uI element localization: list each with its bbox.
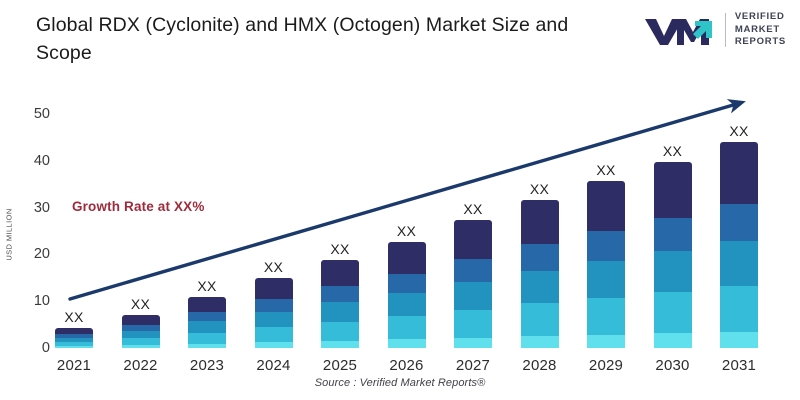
bar-segment[interactable] bbox=[255, 299, 293, 312]
bar-segment[interactable] bbox=[255, 278, 293, 299]
bar-segment[interactable] bbox=[521, 271, 559, 304]
bar-segment[interactable] bbox=[521, 244, 559, 271]
bar-group[interactable]: XX2026 bbox=[388, 190, 426, 348]
bar-segment[interactable] bbox=[587, 231, 625, 261]
bar-segment[interactable] bbox=[321, 302, 359, 321]
y-tick-label: 50 bbox=[16, 106, 50, 122]
bar-stack[interactable] bbox=[188, 297, 226, 348]
bar-segment[interactable] bbox=[587, 298, 625, 335]
bar-segment[interactable] bbox=[122, 345, 160, 348]
y-tick-label: 10 bbox=[16, 293, 50, 309]
bar-segment[interactable] bbox=[454, 259, 492, 282]
bar-value-label: XX bbox=[55, 309, 93, 325]
bar-segment[interactable] bbox=[654, 251, 692, 292]
bar-stack[interactable] bbox=[454, 220, 492, 348]
bar-segment[interactable] bbox=[454, 338, 492, 348]
bar-group[interactable]: XX2021 bbox=[55, 276, 93, 348]
bar-stack[interactable] bbox=[521, 200, 559, 348]
bar-segment[interactable] bbox=[454, 310, 492, 338]
bar-segment[interactable] bbox=[654, 218, 692, 252]
bar-segment[interactable] bbox=[321, 341, 359, 348]
bar-segment[interactable] bbox=[587, 335, 625, 348]
bar-segment[interactable] bbox=[388, 339, 426, 348]
bar-group[interactable]: XX2029 bbox=[587, 129, 625, 348]
bar-segment[interactable] bbox=[255, 312, 293, 327]
bar-segment[interactable] bbox=[654, 292, 692, 333]
y-tick-label: 40 bbox=[16, 153, 50, 169]
bar-stack[interactable] bbox=[122, 315, 160, 348]
bar-segment[interactable] bbox=[388, 293, 426, 316]
y-axis-ticks: 01020304050 bbox=[10, 0, 50, 400]
x-tick-label: 2022 bbox=[122, 357, 160, 374]
bar-value-label: XX bbox=[188, 278, 226, 294]
bar-group[interactable]: XX2022 bbox=[122, 263, 160, 348]
bar-segment[interactable] bbox=[321, 260, 359, 286]
x-tick-label: 2030 bbox=[654, 357, 692, 374]
x-tick-label: 2026 bbox=[388, 357, 426, 374]
bar-segment[interactable] bbox=[521, 336, 559, 348]
bar-segment[interactable] bbox=[587, 181, 625, 231]
x-tick-label: 2024 bbox=[255, 357, 293, 374]
bar-value-label: XX bbox=[587, 162, 625, 178]
bar-segment[interactable] bbox=[188, 297, 226, 312]
y-tick-label: 0 bbox=[16, 340, 50, 356]
bar-value-label: XX bbox=[122, 296, 160, 312]
bar-group[interactable]: XX2031 bbox=[720, 90, 758, 348]
bar-value-label: XX bbox=[255, 259, 293, 275]
bar-stack[interactable] bbox=[321, 260, 359, 348]
bar-segment[interactable] bbox=[720, 332, 758, 348]
bar-stack[interactable] bbox=[388, 242, 426, 348]
bar-stack[interactable] bbox=[55, 328, 93, 348]
bar-segment[interactable] bbox=[55, 346, 93, 348]
bar-segment[interactable] bbox=[255, 327, 293, 342]
bar-segment[interactable] bbox=[388, 316, 426, 339]
bar-value-label: XX bbox=[654, 143, 692, 159]
x-tick-label: 2021 bbox=[55, 357, 93, 374]
bar-segment[interactable] bbox=[521, 200, 559, 245]
bar-segment[interactable] bbox=[720, 204, 758, 241]
bar-group[interactable]: XX2023 bbox=[188, 245, 226, 348]
bar-segment[interactable] bbox=[720, 241, 758, 286]
chart-plot-area: USD MILLION 01020304050 Growth Rate at X… bbox=[0, 0, 800, 400]
bar-value-label: XX bbox=[720, 123, 758, 139]
bar-segment[interactable] bbox=[454, 282, 492, 310]
x-tick-label: 2023 bbox=[188, 357, 226, 374]
bar-stack[interactable] bbox=[720, 142, 758, 348]
bar-segment[interactable] bbox=[720, 286, 758, 331]
bar-segment[interactable] bbox=[454, 220, 492, 258]
bar-segment[interactable] bbox=[122, 331, 160, 338]
bar-group[interactable]: XX2025 bbox=[321, 208, 359, 348]
bar-segment[interactable] bbox=[321, 322, 359, 341]
bar-group[interactable]: XX2028 bbox=[521, 148, 559, 348]
bar-segment[interactable] bbox=[654, 333, 692, 348]
bar-segment[interactable] bbox=[188, 333, 226, 344]
source-note: Source : Verified Market Reports® bbox=[0, 377, 800, 389]
bar-segment[interactable] bbox=[321, 286, 359, 302]
bar-segment[interactable] bbox=[388, 242, 426, 274]
bar-segment[interactable] bbox=[188, 321, 226, 332]
bar-group[interactable]: XX2024 bbox=[255, 226, 293, 348]
bar-group[interactable]: XX2030 bbox=[654, 110, 692, 348]
bar-segment[interactable] bbox=[188, 312, 226, 321]
bar-segment[interactable] bbox=[188, 344, 226, 348]
bar-value-label: XX bbox=[454, 201, 492, 217]
x-tick-label: 2029 bbox=[587, 357, 625, 374]
bar-stack[interactable] bbox=[654, 162, 692, 348]
bar-segment[interactable] bbox=[255, 342, 293, 348]
bar-segment[interactable] bbox=[720, 142, 758, 204]
bar-segment[interactable] bbox=[587, 261, 625, 298]
x-tick-label: 2028 bbox=[521, 357, 559, 374]
y-tick-label: 20 bbox=[16, 246, 50, 262]
bar-stack[interactable] bbox=[587, 181, 625, 348]
bar-value-label: XX bbox=[521, 181, 559, 197]
bar-segment[interactable] bbox=[521, 303, 559, 336]
bar-segment[interactable] bbox=[122, 315, 160, 325]
bar-value-label: XX bbox=[321, 241, 359, 257]
y-tick-label: 30 bbox=[16, 200, 50, 216]
bar-segment[interactable] bbox=[388, 274, 426, 293]
growth-rate-annotation: Growth Rate at XX% bbox=[72, 199, 204, 214]
x-tick-label: 2025 bbox=[321, 357, 359, 374]
bar-stack[interactable] bbox=[255, 278, 293, 348]
bar-segment[interactable] bbox=[122, 338, 160, 345]
x-tick-label: 2031 bbox=[720, 357, 758, 374]
bar-value-label: XX bbox=[388, 223, 426, 239]
x-tick-label: 2027 bbox=[454, 357, 492, 374]
bar-segment[interactable] bbox=[654, 162, 692, 218]
bar-group[interactable]: XX2027 bbox=[454, 168, 492, 348]
